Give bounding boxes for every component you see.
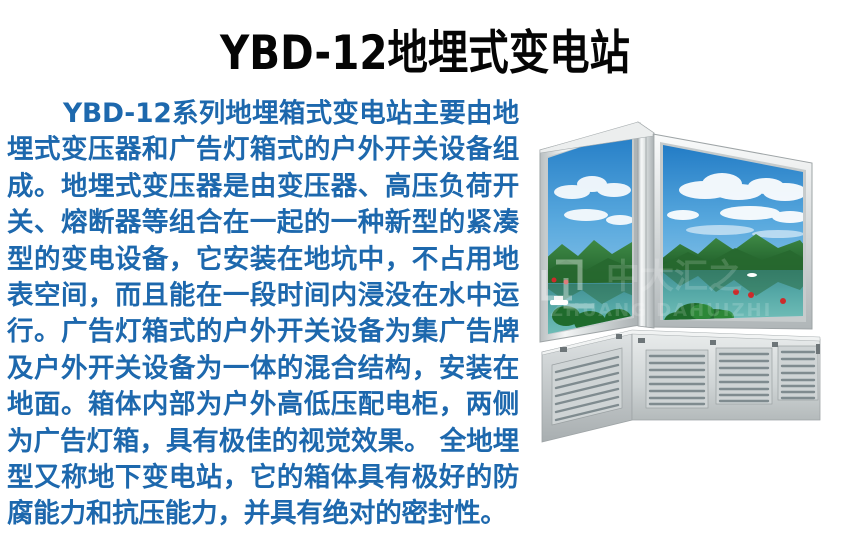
watermark-line2: ZHUANG DAHUIZHI — [550, 300, 772, 321]
right-base-vent-2 — [716, 348, 772, 404]
right-base-vent-3 — [778, 346, 818, 400]
image-watermark: 中大汇之 ZHUANG DAHUIZHI — [544, 257, 772, 321]
right-base-vent-1 — [646, 350, 708, 408]
corner-post — [638, 122, 654, 328]
product-photo-illustration: 中大汇之 ZHUANG DAHUIZHI — [520, 120, 850, 480]
cabinet-base — [542, 330, 820, 442]
page-title: YBD-12地埋式变电站 — [60, 26, 791, 82]
product-photo: 中大汇之 ZHUANG DAHUIZHI — [520, 120, 850, 480]
watermark-line1: 中大汇之 — [606, 257, 742, 297]
product-description-paragraph: YBD-12系列地埋箱式变电站主要由地埋式变压器和广告灯箱式的户外开关设备组成。… — [7, 96, 519, 533]
